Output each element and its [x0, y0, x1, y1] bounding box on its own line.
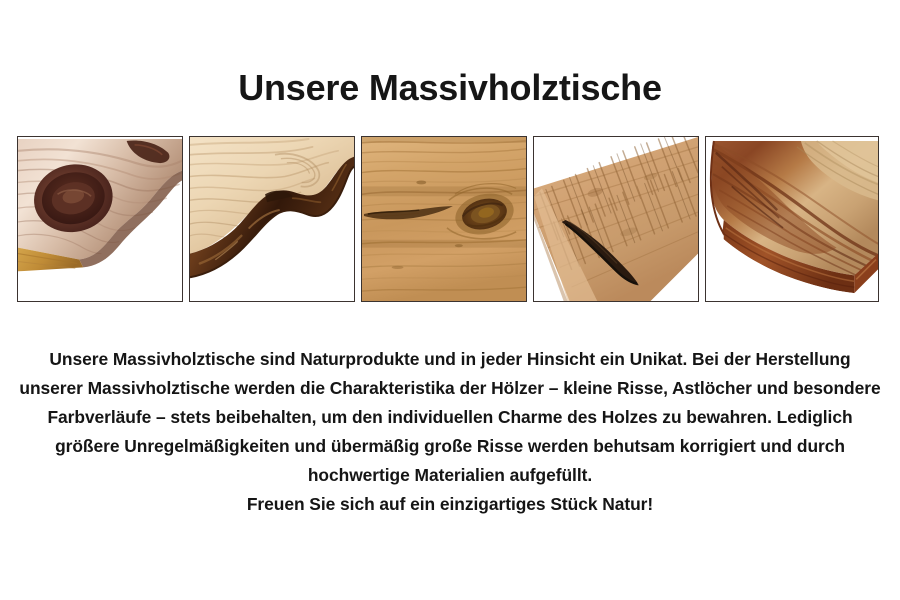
photo-gallery-strip [17, 136, 885, 304]
wood-sheesham-corner-icon [706, 137, 878, 301]
page-title: Unsere Massivholztische [0, 66, 900, 110]
gallery-photo-4 [533, 136, 699, 302]
gallery-photo-5 [705, 136, 879, 302]
gallery-photo-3 [361, 136, 527, 302]
body-paragraph: Unsere Massivholztische sind Naturproduk… [18, 345, 882, 490]
marketing-banner-page: Unsere Massivholztische [0, 0, 900, 600]
wood-slab-burl-corner-icon [18, 137, 182, 301]
body-copy: Unsere Massivholztische sind Naturproduk… [18, 345, 882, 518]
gallery-photo-2 [189, 136, 355, 302]
wood-rough-sawn-crack-icon [534, 137, 698, 301]
wood-live-edge-light-icon [190, 137, 354, 301]
gallery-photo-1 [17, 136, 183, 302]
wood-grain-knot-closeup-icon [362, 137, 526, 301]
body-closing-line: Freuen Sie sich auf ein einzigartiges St… [18, 490, 882, 519]
